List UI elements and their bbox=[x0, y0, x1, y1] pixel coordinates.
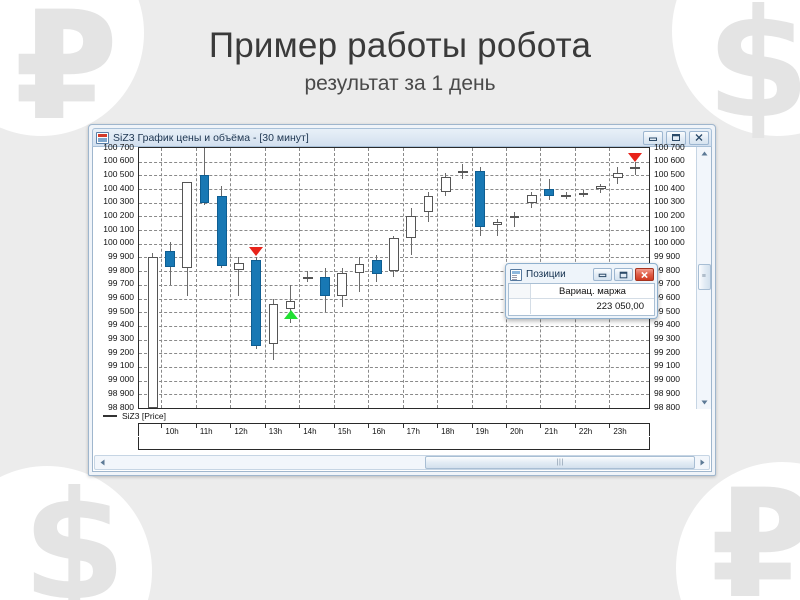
close-icon bbox=[694, 133, 704, 142]
positions-column-header: Вариац. маржа bbox=[531, 284, 654, 298]
y-axis-tick-label: 100 200 bbox=[654, 210, 685, 221]
y-axis-tick-label: 99 100 bbox=[654, 360, 680, 371]
y-axis-tick-label: 100 100 bbox=[654, 224, 685, 235]
maximize-icon bbox=[619, 271, 628, 279]
y-axis-tick-label: 99 900 bbox=[654, 251, 680, 262]
chart-window-titlebar[interactable]: SiZ3 График цены и объёма - [30 минут] bbox=[92, 128, 712, 147]
x-axis-tick-label: 18h bbox=[441, 427, 454, 436]
y-axis-tick-label: 99 200 bbox=[654, 347, 680, 358]
x-axis-tick-label: 22h bbox=[579, 427, 592, 436]
x-axis-tick bbox=[299, 424, 300, 428]
candlestick[interactable] bbox=[389, 148, 399, 408]
candlestick[interactable] bbox=[165, 148, 175, 408]
candlestick[interactable] bbox=[355, 148, 365, 408]
minimize-icon bbox=[598, 271, 607, 278]
positions-dialog-title: Позиции bbox=[526, 269, 589, 280]
candlestick-body bbox=[493, 222, 503, 225]
page-heading: Пример работы робота результат за 1 день bbox=[0, 26, 800, 96]
candlestick[interactable] bbox=[424, 148, 434, 408]
grid-line-vertical bbox=[334, 148, 335, 408]
close-icon bbox=[640, 271, 649, 279]
x-axis-tick-label: 13h bbox=[269, 427, 282, 436]
x-axis-tick bbox=[403, 424, 404, 428]
candlestick-body bbox=[527, 195, 537, 203]
candlestick-body bbox=[544, 189, 554, 196]
x-axis-tick bbox=[472, 424, 473, 428]
y-axis-tick-label: 99 700 bbox=[108, 278, 134, 289]
y-axis-tick-label: 100 500 bbox=[654, 169, 685, 180]
x-axis-tick-label: 17h bbox=[407, 427, 420, 436]
sell-signal-marker bbox=[628, 153, 642, 162]
candlestick-body bbox=[406, 216, 416, 238]
scroll-right-button[interactable] bbox=[695, 456, 709, 469]
x-axis-tick bbox=[265, 424, 266, 428]
candlestick-body bbox=[269, 304, 279, 344]
candlestick-body bbox=[561, 195, 571, 197]
vertical-scroll-thumb[interactable]: ≡ bbox=[698, 264, 711, 290]
positions-dialog-titlebar[interactable]: Позиции bbox=[508, 266, 655, 283]
chart-horizontal-scrollbar[interactable]: ||| bbox=[94, 455, 710, 470]
positions-row-spacer bbox=[509, 299, 531, 314]
candlestick-wick bbox=[514, 212, 515, 227]
y-axis-tick-label: 99 400 bbox=[108, 319, 134, 330]
y-axis-tick-label: 99 400 bbox=[654, 319, 680, 330]
grid-line-vertical bbox=[196, 148, 197, 408]
grid-line-vertical bbox=[403, 148, 404, 408]
candlestick[interactable] bbox=[251, 148, 261, 408]
candlestick-body bbox=[234, 263, 244, 270]
y-axis-tick-label: 100 000 bbox=[103, 237, 134, 248]
candlestick-body bbox=[286, 301, 296, 309]
candlestick-body bbox=[182, 182, 192, 268]
y-axis-tick-label: 100 400 bbox=[103, 183, 134, 194]
candlestick[interactable] bbox=[269, 148, 279, 408]
y-axis-tick-label: 98 800 bbox=[654, 402, 680, 413]
x-axis-tick bbox=[230, 424, 231, 428]
grid-line-vertical bbox=[299, 148, 300, 408]
candlestick-body bbox=[251, 260, 261, 346]
y-axis-tick-label: 99 300 bbox=[108, 333, 134, 344]
x-axis-tick-label: 11h bbox=[200, 427, 213, 436]
candlestick-body bbox=[148, 257, 158, 408]
y-axis-tick-label: 100 600 bbox=[654, 155, 685, 166]
chart-window-title: SiZ3 График цены и объёма - [30 минут] bbox=[113, 132, 643, 144]
grid-line-vertical bbox=[368, 148, 369, 408]
x-axis-container: 10h11h12h13h14h15h16h17h18h19h20h21h22h2… bbox=[93, 423, 711, 453]
y-axis-tick-label: 100 700 bbox=[103, 142, 134, 153]
y-axis-tick-label: 100 700 bbox=[654, 142, 685, 153]
grid-line-horizontal bbox=[139, 408, 649, 409]
bg-circle-bottom-right bbox=[676, 462, 800, 600]
candlestick[interactable] bbox=[286, 148, 296, 408]
candlestick[interactable] bbox=[303, 148, 313, 408]
x-axis-tick-label: 16h bbox=[372, 427, 385, 436]
grid-line-vertical bbox=[230, 148, 231, 408]
x-axis-tick-label: 21h bbox=[544, 427, 557, 436]
x-axis-tick bbox=[540, 424, 541, 428]
x-axis-tick-label: 15h bbox=[338, 427, 351, 436]
candlestick[interactable] bbox=[372, 148, 382, 408]
page-title: Пример работы робота bbox=[0, 26, 800, 66]
ruble-symbol-bottom-right: ₽ bbox=[710, 470, 800, 600]
x-axis-tick bbox=[575, 424, 576, 428]
close-button[interactable] bbox=[689, 131, 709, 145]
positions-window-icon bbox=[510, 269, 522, 281]
positions-minimize-button[interactable] bbox=[593, 268, 612, 281]
candlestick-body bbox=[320, 277, 330, 296]
minimize-icon bbox=[648, 134, 658, 142]
chart-legend: SiZ3 [Price] bbox=[93, 409, 711, 423]
y-axis-tick-label: 98 900 bbox=[108, 388, 134, 399]
y-axis-tick-label: 100 100 bbox=[103, 224, 134, 235]
legend-label: SiZ3 [Price] bbox=[122, 411, 166, 421]
candlestick[interactable] bbox=[458, 148, 468, 408]
positions-maximize-button[interactable] bbox=[614, 268, 633, 281]
buy-signal-marker bbox=[284, 310, 298, 319]
y-axis-tick-label: 100 000 bbox=[654, 237, 685, 248]
candlestick-body bbox=[579, 193, 589, 195]
horizontal-scroll-thumb[interactable]: ||| bbox=[425, 456, 695, 469]
legend-line-icon bbox=[103, 415, 117, 417]
chevron-down-icon bbox=[701, 400, 708, 405]
y-axis-tick-label: 99 600 bbox=[108, 292, 134, 303]
x-axis-tick-label: 20h bbox=[510, 427, 523, 436]
candlestick-body bbox=[613, 173, 623, 178]
x-axis-tick bbox=[609, 424, 610, 428]
candlestick[interactable] bbox=[182, 148, 192, 408]
candlestick[interactable] bbox=[337, 148, 347, 408]
horizontal-scroll-track[interactable]: ||| bbox=[109, 456, 695, 469]
positions-dialog[interactable]: Позиции Вариац. маржа bbox=[505, 263, 658, 319]
candlestick-body bbox=[389, 238, 399, 271]
positions-table-header-row: Вариац. маржа bbox=[509, 284, 654, 299]
candlestick-wick bbox=[359, 257, 360, 291]
grid-line-vertical bbox=[437, 148, 438, 408]
y-axis-tick-label: 99 100 bbox=[108, 360, 134, 371]
x-axis-tick bbox=[368, 424, 369, 428]
volume-pane-placeholder bbox=[138, 437, 650, 450]
y-axis-tick-label: 100 300 bbox=[103, 196, 134, 207]
bg-circle-bottom-left bbox=[0, 466, 152, 600]
candlestick-body bbox=[337, 273, 347, 296]
scroll-down-button[interactable] bbox=[698, 396, 711, 409]
candlestick-body bbox=[441, 177, 451, 192]
vertical-scroll-track[interactable]: ≡ bbox=[698, 160, 711, 396]
candlestick[interactable] bbox=[234, 148, 244, 408]
y-axis-tick-label: 99 500 bbox=[108, 306, 134, 317]
y-axis-tick-label: 99 800 bbox=[108, 265, 134, 276]
candlestick-body bbox=[200, 175, 210, 202]
y-axis-tick-label: 100 600 bbox=[103, 155, 134, 166]
candlestick-body bbox=[372, 260, 382, 274]
candlestick[interactable] bbox=[148, 148, 158, 408]
candlestick[interactable] bbox=[200, 148, 210, 408]
candlestick-body bbox=[475, 171, 485, 227]
scroll-up-button[interactable] bbox=[698, 147, 711, 160]
candlestick-body bbox=[355, 264, 365, 272]
x-axis-tick-label: 14h bbox=[303, 427, 316, 436]
candlestick[interactable] bbox=[475, 148, 485, 408]
chevron-right-icon bbox=[700, 459, 705, 466]
x-axis-tick bbox=[334, 424, 335, 428]
grid-line-vertical bbox=[161, 148, 162, 408]
candlestick-body bbox=[596, 186, 606, 189]
y-axis-tick-label: 98 900 bbox=[654, 388, 680, 399]
candlestick-body bbox=[217, 196, 227, 266]
candlestick-body bbox=[165, 251, 175, 267]
page-subtitle: результат за 1 день bbox=[0, 72, 800, 96]
y-axis-tick-label: 99 200 bbox=[108, 347, 134, 358]
horizontal-thumb-grip: ||| bbox=[557, 459, 564, 466]
y-axis-tick-label: 99 000 bbox=[108, 374, 134, 385]
chevron-up-icon bbox=[701, 151, 708, 156]
dollar-symbol-bottom-left: $ bbox=[22, 472, 126, 600]
candlestick-body bbox=[458, 171, 468, 173]
variation-margin-value: 223 050,00 bbox=[531, 299, 654, 314]
positions-table: Вариац. маржа 223 050,00 bbox=[508, 283, 655, 316]
candlestick[interactable] bbox=[217, 148, 227, 408]
candlestick[interactable] bbox=[320, 148, 330, 408]
y-axis-tick-label: 100 500 bbox=[103, 169, 134, 180]
x-axis-tick-label: 12h bbox=[234, 427, 247, 436]
chart-vertical-scrollbar[interactable]: ≡ bbox=[696, 147, 711, 409]
x-axis-tick-label: 10h bbox=[165, 427, 178, 436]
x-axis-time: 10h11h12h13h14h15h16h17h18h19h20h21h22h2… bbox=[138, 423, 650, 436]
positions-close-button[interactable] bbox=[635, 268, 654, 281]
chevron-left-icon bbox=[100, 459, 105, 466]
y-axis-tick-label: 100 300 bbox=[654, 196, 685, 207]
y-axis-tick-label: 99 300 bbox=[654, 333, 680, 344]
x-axis-tick bbox=[196, 424, 197, 428]
y-axis-tick-label: 100 200 bbox=[103, 210, 134, 221]
y-axis-tick-label: 98 800 bbox=[108, 402, 134, 413]
candlestick-body bbox=[510, 216, 520, 218]
sell-signal-marker bbox=[249, 247, 263, 256]
candlestick-body bbox=[424, 196, 434, 212]
grid-line-vertical bbox=[472, 148, 473, 408]
candlestick-body bbox=[303, 277, 313, 280]
scroll-left-button[interactable] bbox=[95, 456, 109, 469]
x-axis-tick bbox=[437, 424, 438, 428]
candlestick[interactable] bbox=[406, 148, 416, 408]
y-axis-left: 100 700100 600100 500100 400100 300100 2… bbox=[93, 147, 137, 409]
candlestick-body bbox=[630, 167, 640, 169]
candlestick[interactable] bbox=[493, 148, 503, 408]
y-axis-tick-label: 99 900 bbox=[108, 251, 134, 262]
x-axis-tick-label: 19h bbox=[476, 427, 489, 436]
y-axis-tick-label: 100 400 bbox=[654, 183, 685, 194]
grid-line-vertical bbox=[265, 148, 266, 408]
y-axis-tick-label: 99 000 bbox=[654, 374, 680, 385]
x-axis-tick-label: 23h bbox=[613, 427, 626, 436]
positions-header-spacer bbox=[509, 284, 531, 298]
candlestick[interactable] bbox=[441, 148, 451, 408]
positions-dialog-controls bbox=[593, 268, 654, 281]
x-axis-tick bbox=[506, 424, 507, 428]
vertical-thumb-grip: ≡ bbox=[702, 273, 707, 280]
x-axis-tick bbox=[161, 424, 162, 428]
positions-table-row[interactable]: 223 050,00 bbox=[509, 299, 654, 314]
